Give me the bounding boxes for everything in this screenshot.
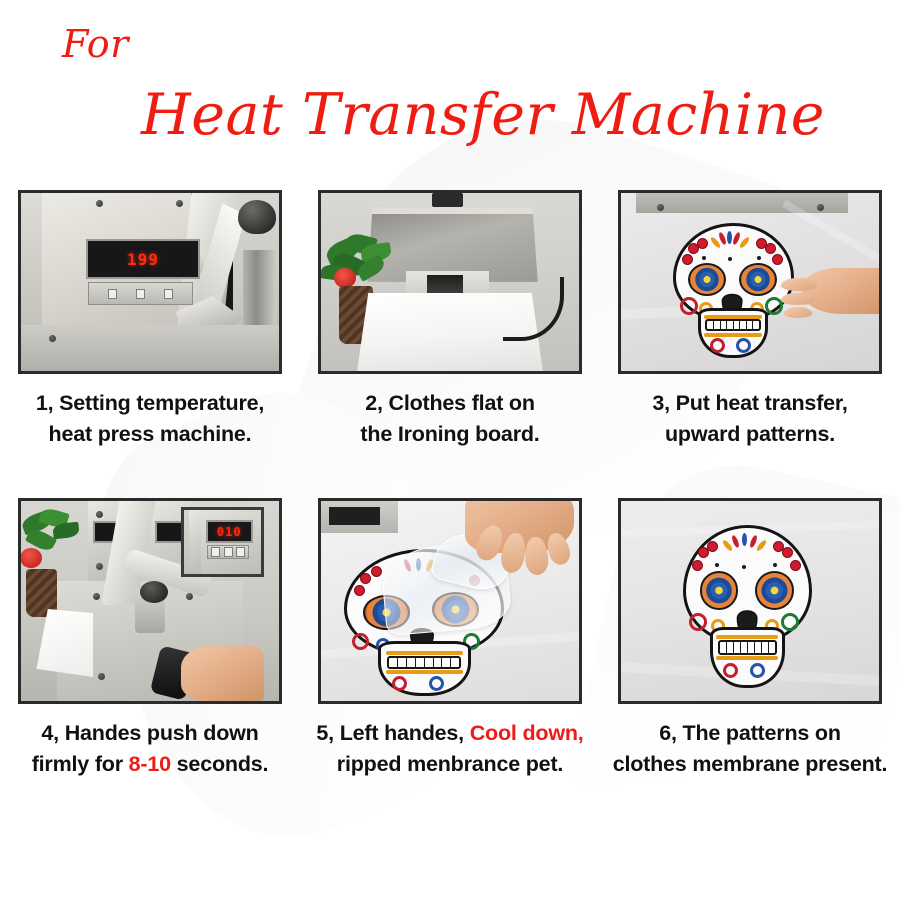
transfer-placed-photo (618, 190, 882, 374)
controller-keypad (88, 282, 193, 305)
step-2: 2, Clothes flat on the Ironing board. (300, 190, 600, 498)
heat-press-controller-photo: 199 (18, 190, 282, 374)
step-5-caption-line1: 5, Left handes, Cool down, (316, 721, 583, 745)
hand (181, 645, 264, 701)
step-3-caption-line2: upward patterns. (605, 419, 895, 450)
steps-grid: 199 1, Setting temperature, heat press m… (0, 190, 900, 781)
sugar-skull-pattern (683, 525, 812, 685)
hand (802, 268, 882, 314)
step-5-caption-line1-pre: 5, Left handes, (316, 721, 469, 745)
title-line-for: For (62, 22, 129, 66)
title-line-main: Heat Transfer Machine (141, 82, 825, 148)
step-1: 199 1, Setting temperature, heat press m… (0, 190, 300, 498)
sugar-skull-pattern (673, 223, 794, 355)
step-2-caption-line2: the Ironing board. (305, 419, 595, 450)
rose-flower (20, 548, 42, 568)
step-3-caption-line1: 3, Put heat transfer, (652, 391, 847, 415)
step-3-caption: 3, Put heat transfer, upward patterns. (605, 388, 895, 451)
step-4-caption-line2: firmly for 8-10 seconds. (5, 749, 295, 780)
step-5-cooldown-highlight: Cool down, (470, 721, 584, 745)
step-4-caption-line2-post: seconds. (171, 752, 268, 776)
step-6: 6, The patterns on clothes membrane pres… (600, 498, 900, 781)
press-closed-photo: 010 (18, 498, 282, 704)
step-1-caption-line1: 1, Setting temperature, (36, 391, 264, 415)
finished-transfer-photo (618, 498, 882, 704)
timer-display-inset: 010 (181, 507, 264, 577)
step-5-caption-line2: ripped menbrance pet. (305, 749, 595, 780)
step-2-caption-line1: 2, Clothes flat on (365, 391, 535, 415)
step-4-caption-line2-pre: firmly for (32, 752, 129, 776)
temperature-display-value: 199 (127, 250, 159, 269)
step-5-caption: 5, Left handes, Cool down, ripped menbra… (305, 718, 595, 781)
step-3: 3, Put heat transfer, upward patterns. (600, 190, 900, 498)
press-open-with-cloth-photo (318, 190, 582, 374)
step-6-caption-line2: clothes membrane present. (605, 749, 895, 780)
step-4-duration-highlight: 8-10 (129, 752, 171, 776)
peeling-film-photo (318, 498, 582, 704)
step-6-caption: 6, The patterns on clothes membrane pres… (605, 718, 895, 781)
step-5: 5, Left handes, Cool down, ripped menbra… (300, 498, 600, 781)
instruction-infographic: For Heat Transfer Machine (0, 0, 900, 900)
step-1-caption: 1, Setting temperature, heat press machi… (5, 388, 295, 451)
step-2-caption: 2, Clothes flat on the Ironing board. (305, 388, 595, 451)
step-6-caption-line1: 6, The patterns on (659, 721, 841, 745)
step-4-caption-line1: 4, Handes push down (41, 721, 258, 745)
temperature-display: 199 (86, 239, 201, 279)
step-1-caption-line2: heat press machine. (5, 419, 295, 450)
step-4: 010 4, Handes push down firmly for 8-10 … (0, 498, 300, 781)
timer-display-value: 010 (217, 525, 242, 539)
step-4-caption: 4, Handes push down firmly for 8-10 seco… (5, 718, 295, 781)
